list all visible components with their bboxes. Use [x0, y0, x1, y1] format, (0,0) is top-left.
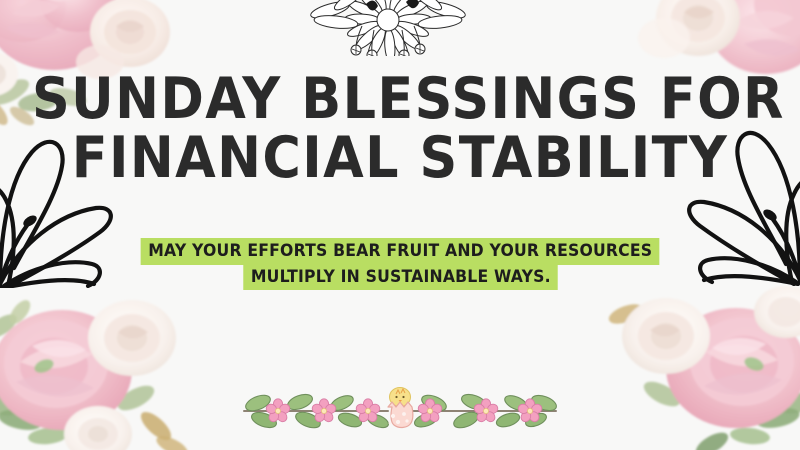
- bottom-right-roses-decoration: [607, 284, 800, 450]
- greeting-poster: SUNDAY BLESSINGS FOR FINANCIAL STABILITY…: [0, 0, 800, 450]
- subtitle: MAY YOUR EFFORTS BEAR FRUIT AND YOUR RES…: [0, 238, 800, 290]
- bottom-left-roses-decoration: [0, 286, 196, 450]
- top-center-daisy-line-art: [296, 0, 480, 56]
- headline-line-1: SUNDAY BLESSINGS FOR: [32, 72, 768, 128]
- subtitle-row-2: MULTIPLY IN SUSTAINABLE WAYS.: [0, 264, 800, 291]
- subtitle-row-1: MAY YOUR EFFORTS BEAR FRUIT AND YOUR RES…: [0, 238, 800, 265]
- easter-egg-chick-icon: [388, 388, 413, 428]
- subtitle-line-2: MULTIPLY IN SUSTAINABLE WAYS.: [243, 264, 557, 291]
- bottom-floral-divider: [238, 383, 562, 435]
- headline-line-2: FINANCIAL STABILITY: [32, 131, 768, 187]
- subtitle-line-1: MAY YOUR EFFORTS BEAR FRUIT AND YOUR RES…: [141, 238, 659, 265]
- headline: SUNDAY BLESSINGS FOR FINANCIAL STABILITY: [0, 72, 800, 187]
